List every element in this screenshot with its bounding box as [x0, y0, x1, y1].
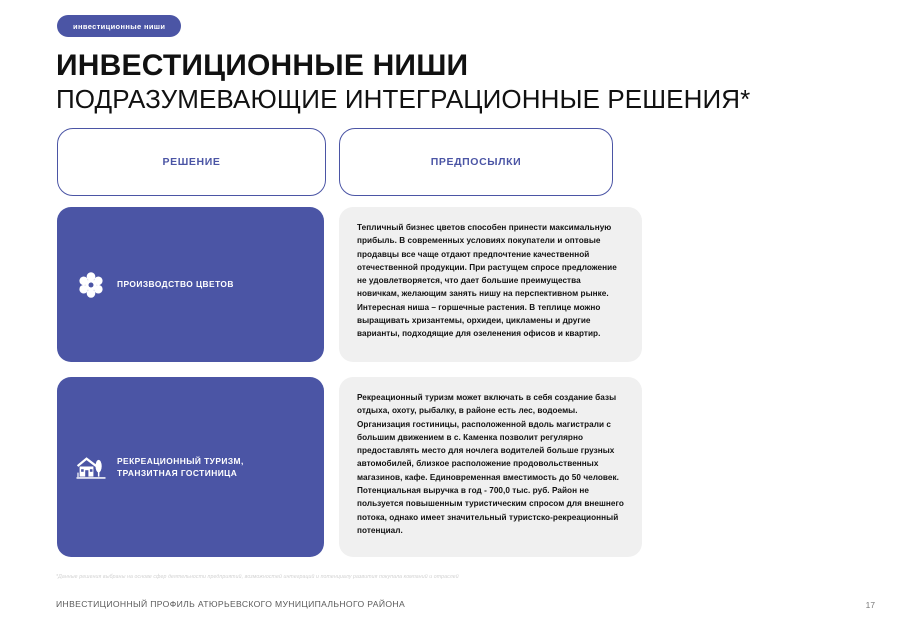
page-subtitle: ПОДРАЗУМЕВАЮЩИЕ ИНТЕГРАЦИОННЫЕ РЕШЕНИЯ* [56, 84, 750, 115]
slide: инвестиционные ниши ИНВЕСТИЦИОННЫЕ НИШИ … [0, 0, 900, 623]
niche-row: ПРОИЗВОДСТВО ЦВЕТОВ Тепличный бизнес цве… [0, 207, 900, 362]
house-tree-icon [76, 452, 106, 482]
column-header-premises-label: ПРЕДПОСЫЛКИ [431, 156, 522, 168]
solution-card-label: ПРОИЗВОДСТВО ЦВЕТОВ [117, 278, 234, 290]
page-title: ИНВЕСТИЦИОННЫЕ НИШИ [56, 49, 468, 83]
column-header-solution-label: РЕШЕНИЕ [163, 156, 221, 168]
page-number: 17 [866, 600, 875, 610]
premises-card-text: Тепличный бизнес цветов способен принест… [357, 221, 624, 341]
footer-document-title: ИНВЕСТИЦИОННЫЙ ПРОФИЛЬ АТЮРЬЕВСКОГО МУНИ… [56, 599, 405, 609]
section-badge: инвестиционные ниши [57, 15, 181, 37]
column-header-premises: ПРЕДПОСЫЛКИ [339, 128, 613, 196]
solution-card: ПРОИЗВОДСТВО ЦВЕТОВ [57, 207, 324, 362]
flower-icon [76, 270, 106, 300]
premises-card-text: Рекреационный туризм может включать в се… [357, 391, 624, 537]
column-header-solution: РЕШЕНИЕ [57, 128, 326, 196]
premises-card: Тепличный бизнес цветов способен принест… [339, 207, 642, 362]
premises-card: Рекреационный туризм может включать в се… [339, 377, 642, 557]
footnote: *Данные решения выбраны на основе сфер д… [56, 574, 459, 580]
niche-row: РЕКРЕАЦИОННЫЙ ТУРИЗМ, ТРАНЗИТНАЯ ГОСТИНИ… [0, 377, 900, 557]
solution-card: РЕКРЕАЦИОННЫЙ ТУРИЗМ, ТРАНЗИТНАЯ ГОСТИНИ… [57, 377, 324, 557]
solution-card-label: РЕКРЕАЦИОННЫЙ ТУРИЗМ, ТРАНЗИТНАЯ ГОСТИНИ… [117, 455, 244, 479]
